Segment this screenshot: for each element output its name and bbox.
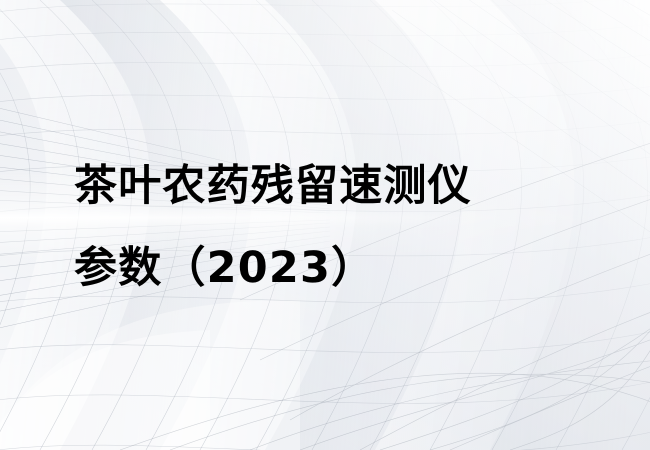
title-banner: 茶叶农药残留速测仪 参数（2023） (0, 0, 650, 450)
background-right-wash (0, 0, 650, 450)
background-graphic (0, 0, 650, 450)
